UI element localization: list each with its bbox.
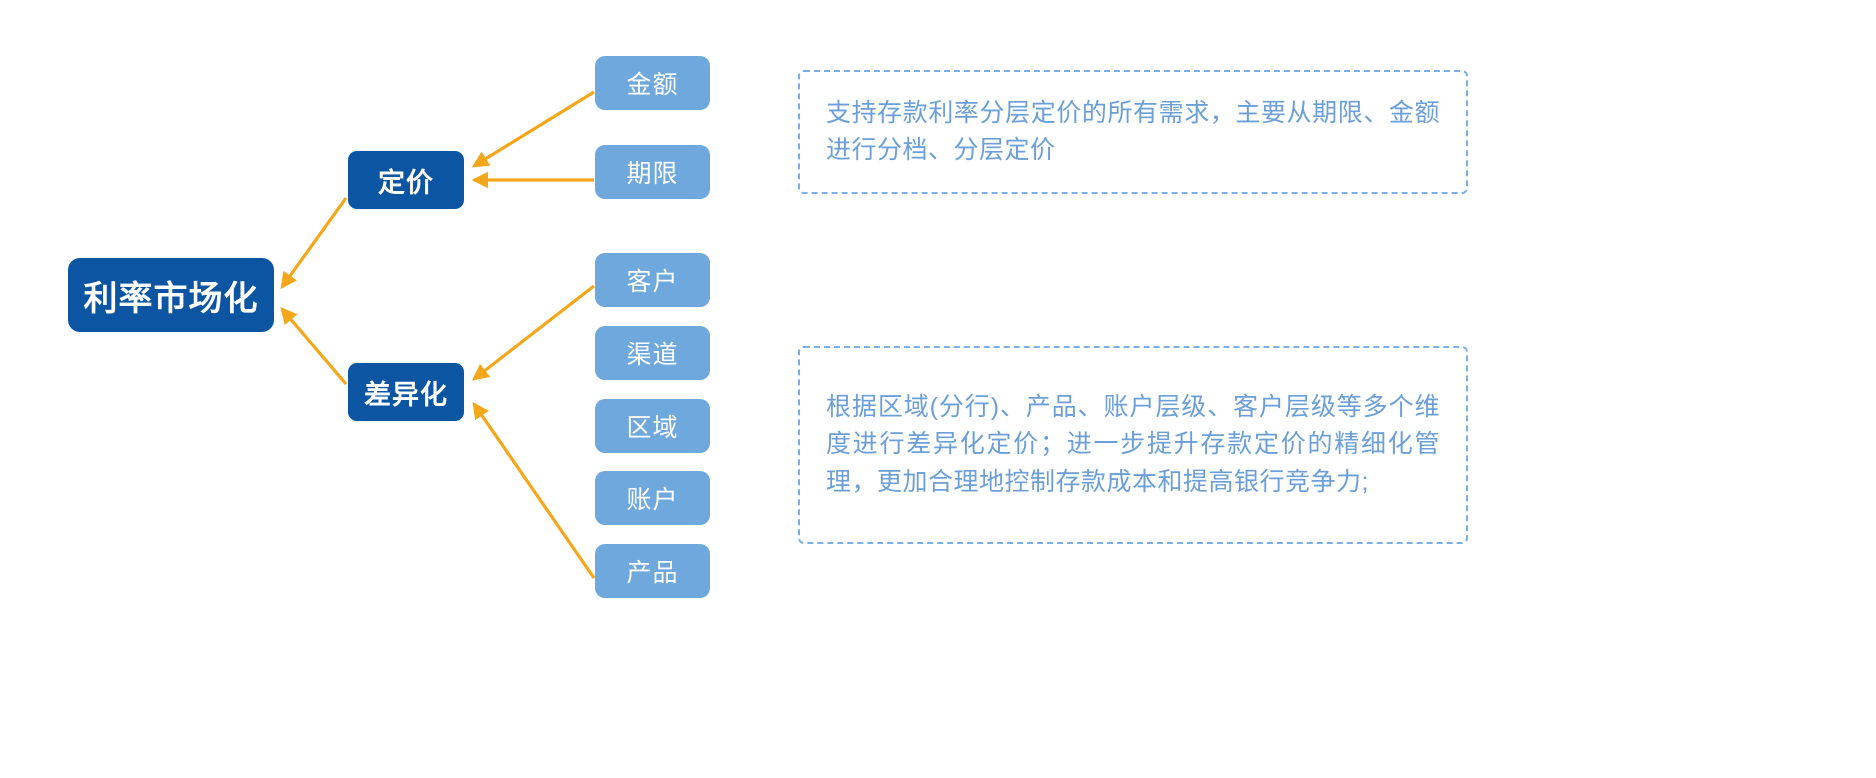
node-channel-label: 渠道 — [626, 335, 678, 371]
node-customer[interactable]: 客户 — [595, 253, 710, 307]
node-root-label: 利率市场化 — [84, 271, 259, 320]
node-term-label: 期限 — [626, 154, 678, 190]
node-root[interactable]: 利率市场化 — [68, 258, 274, 332]
callout-differentiation-note-text: 根据区域(分行)、产品、账户层级、客户层级等多个维度进行差异化定价；进一步提升存… — [826, 389, 1440, 502]
edge-amount-to-pricing — [474, 92, 594, 166]
callout-pricing-note: 支持存款利率分层定价的所有需求，主要从期限、金额进行分档、分层定价 — [798, 70, 1468, 194]
node-account[interactable]: 账户 — [595, 471, 710, 525]
node-term[interactable]: 期限 — [595, 145, 710, 199]
node-differentiation[interactable]: 差异化 — [348, 363, 464, 421]
edge-differentiation-to-root — [282, 309, 346, 384]
edge-product-to-differentiation — [474, 404, 594, 578]
node-channel[interactable]: 渠道 — [595, 326, 710, 380]
node-region-label: 区域 — [626, 408, 678, 444]
node-amount-label: 金额 — [626, 65, 678, 101]
node-differentiation-label: 差异化 — [364, 373, 448, 412]
node-customer-label: 客户 — [626, 262, 678, 298]
node-region[interactable]: 区域 — [595, 399, 710, 453]
edge-customer-to-differentiation — [474, 286, 594, 379]
callout-differentiation-note: 根据区域(分行)、产品、账户层级、客户层级等多个维度进行差异化定价；进一步提升存… — [798, 346, 1468, 544]
node-pricing-label: 定价 — [378, 161, 434, 200]
node-pricing[interactable]: 定价 — [348, 151, 464, 209]
diagram-canvas: 利率市场化 定价 差异化 金额 期限 客户 渠道 区域 账户 产品 支持存款利率… — [0, 0, 1876, 778]
node-account-label: 账户 — [626, 480, 678, 516]
callout-pricing-note-text: 支持存款利率分层定价的所有需求，主要从期限、金额进行分档、分层定价 — [826, 95, 1440, 170]
node-product[interactable]: 产品 — [595, 544, 710, 598]
node-amount[interactable]: 金额 — [595, 56, 710, 110]
node-product-label: 产品 — [626, 553, 678, 589]
edge-pricing-to-root — [282, 198, 346, 287]
